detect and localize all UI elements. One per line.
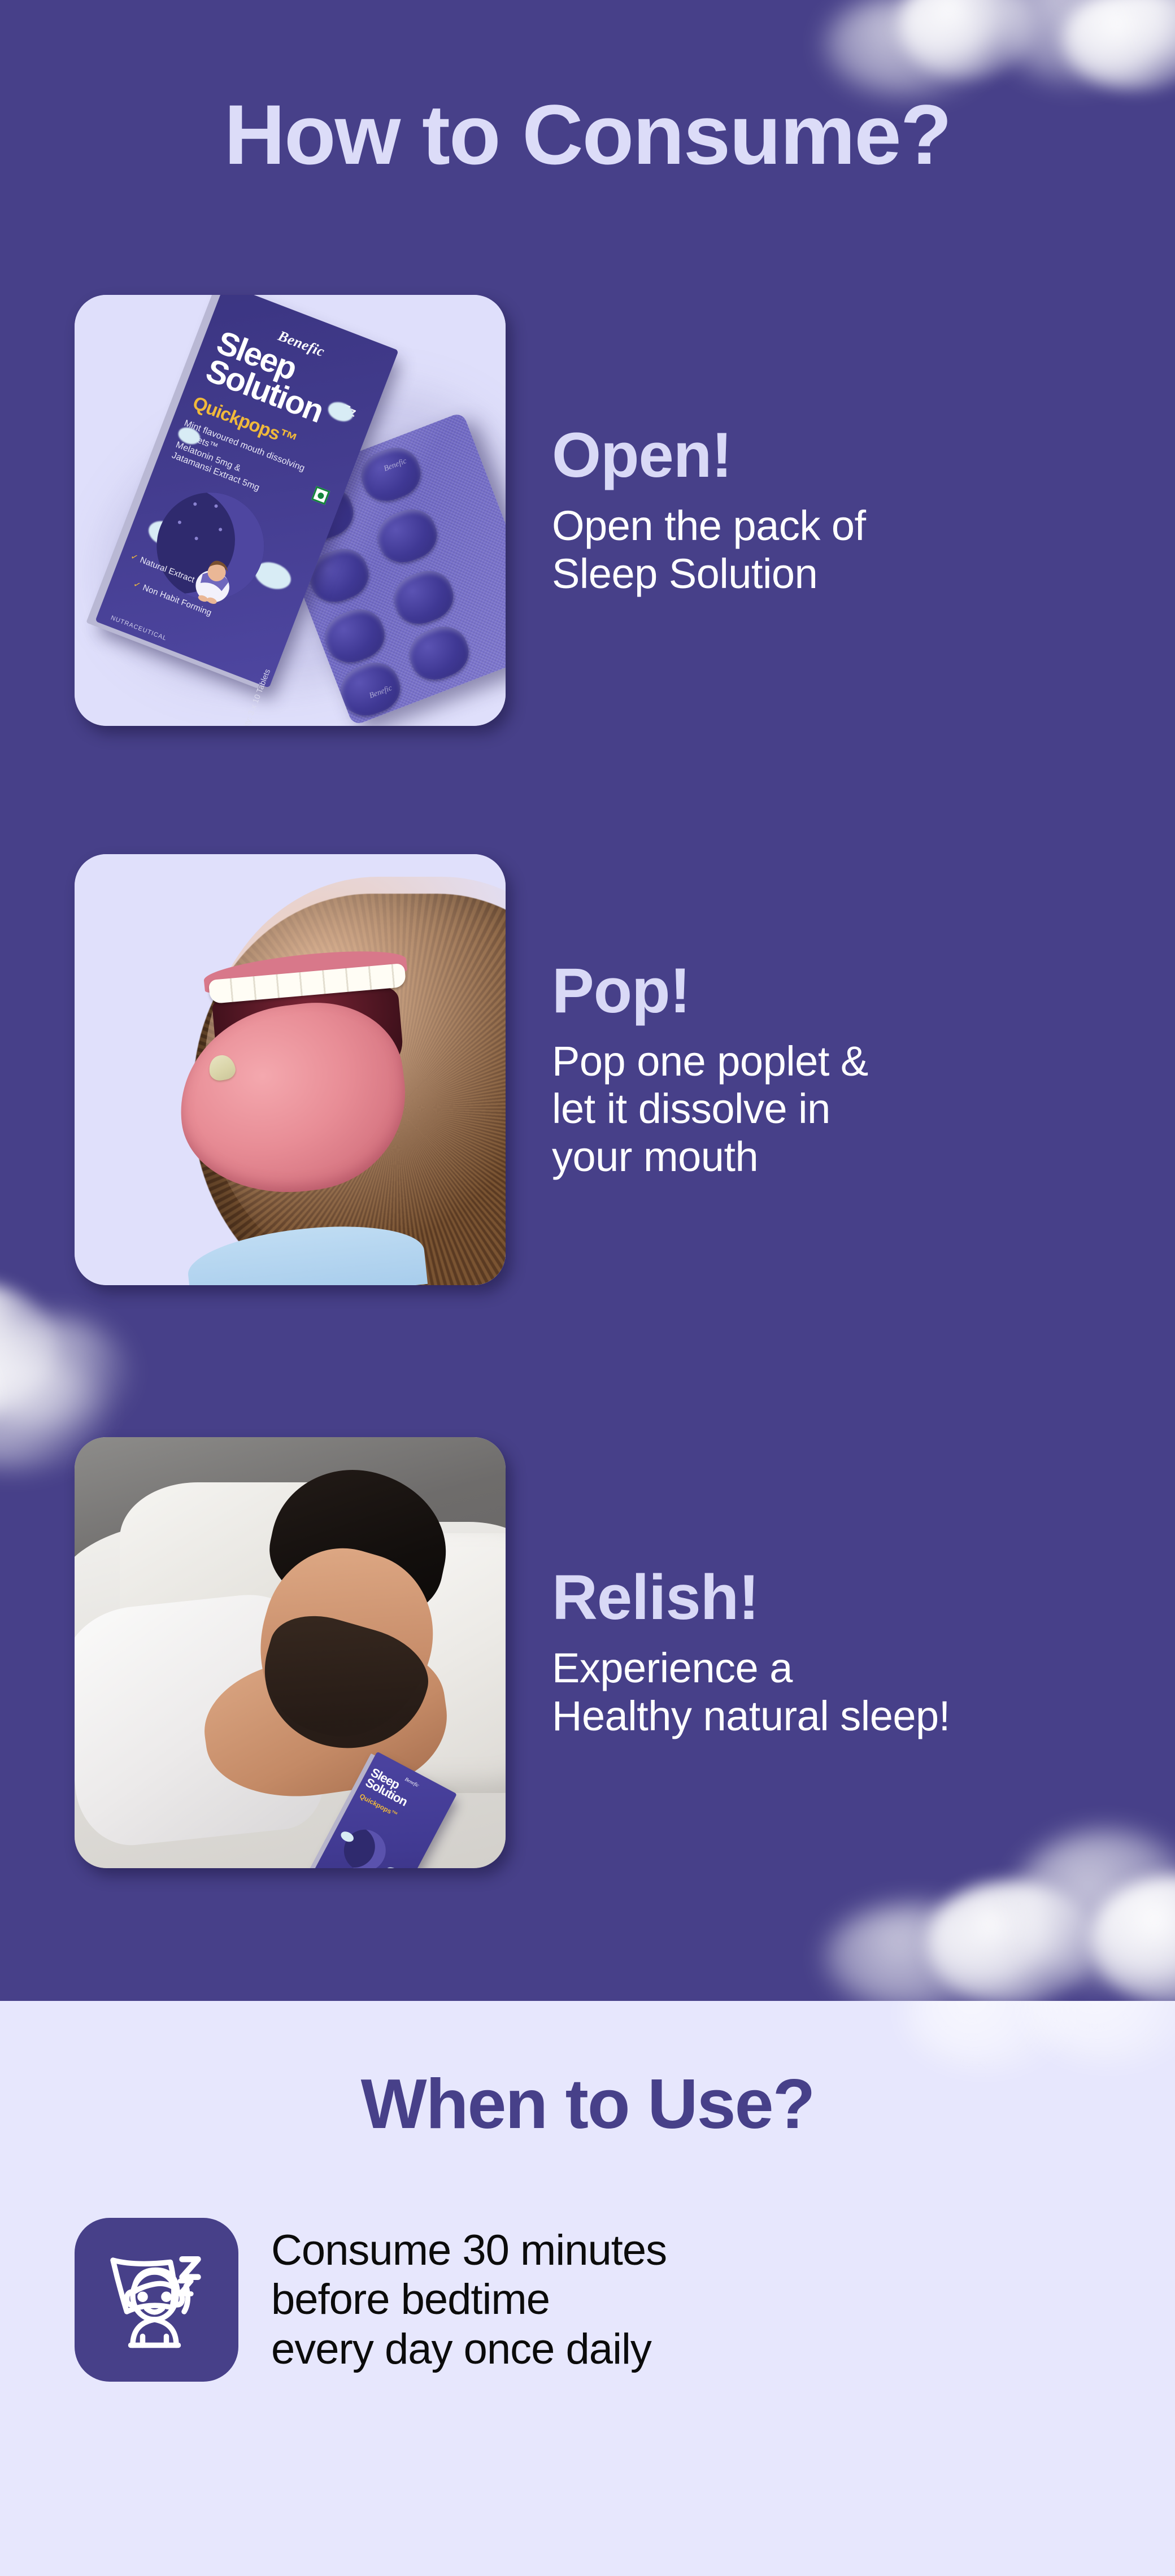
step-pop: Pop! Pop one poplet & let it dissolve in…	[75, 854, 1131, 1285]
step-relish-heading: Relish!	[552, 1565, 950, 1630]
step-pop-body: Pop one poplet & let it dissolve in your…	[552, 1038, 868, 1181]
when-to-use-text: Consume 30 minutes before bedtime every …	[238, 2226, 667, 2374]
product-category: NUTRACEUTICAL	[110, 615, 168, 642]
step-relish-text: Relish! Experience a Healthy natural sle…	[506, 1565, 950, 1740]
when-to-use-row: Consume 30 minutes before bedtime every …	[75, 2218, 667, 2382]
sleeping-man-photo: Benefic Sleep Solution Quickpops™	[75, 1437, 506, 1868]
product-pack-photo: Benefic Benefic Benefic Benefic Sleep So…	[75, 295, 506, 726]
step-open-body: Open the pack of Sleep Solution	[552, 502, 866, 598]
step-pop-image-card	[75, 854, 506, 1285]
how-to-consume-section: How to Consume? Benefic	[0, 0, 1175, 2001]
sleeping-person-glyph	[97, 2240, 216, 2359]
step-relish-body: Experience a Healthy natural sleep!	[552, 1644, 950, 1740]
when-to-use-title: When to Use?	[0, 2068, 1175, 2141]
infographic-page: How to Consume? Benefic	[0, 0, 1175, 2576]
step-open: Benefic Benefic Benefic Benefic Sleep So…	[75, 295, 1131, 726]
pack-moon-small	[337, 1822, 393, 1868]
how-to-consume-title: How to Consume?	[0, 90, 1175, 180]
step-pop-text: Pop! Pop one poplet & let it dissolve in…	[506, 959, 868, 1181]
step-relish: Benefic Sleep Solution Quickpops™ Relish…	[75, 1437, 1131, 1868]
sleeping-person-icon	[75, 2218, 238, 2382]
step-open-text: Open! Open the pack of Sleep Solution	[506, 423, 866, 598]
tongue-poplet-photo	[75, 854, 506, 1285]
step-pop-heading: Pop!	[552, 959, 868, 1023]
step-open-image-card: Benefic Benefic Benefic Benefic Sleep So…	[75, 295, 506, 726]
step-open-heading: Open!	[552, 423, 866, 488]
step-relish-image-card: Benefic Sleep Solution Quickpops™	[75, 1437, 506, 1868]
